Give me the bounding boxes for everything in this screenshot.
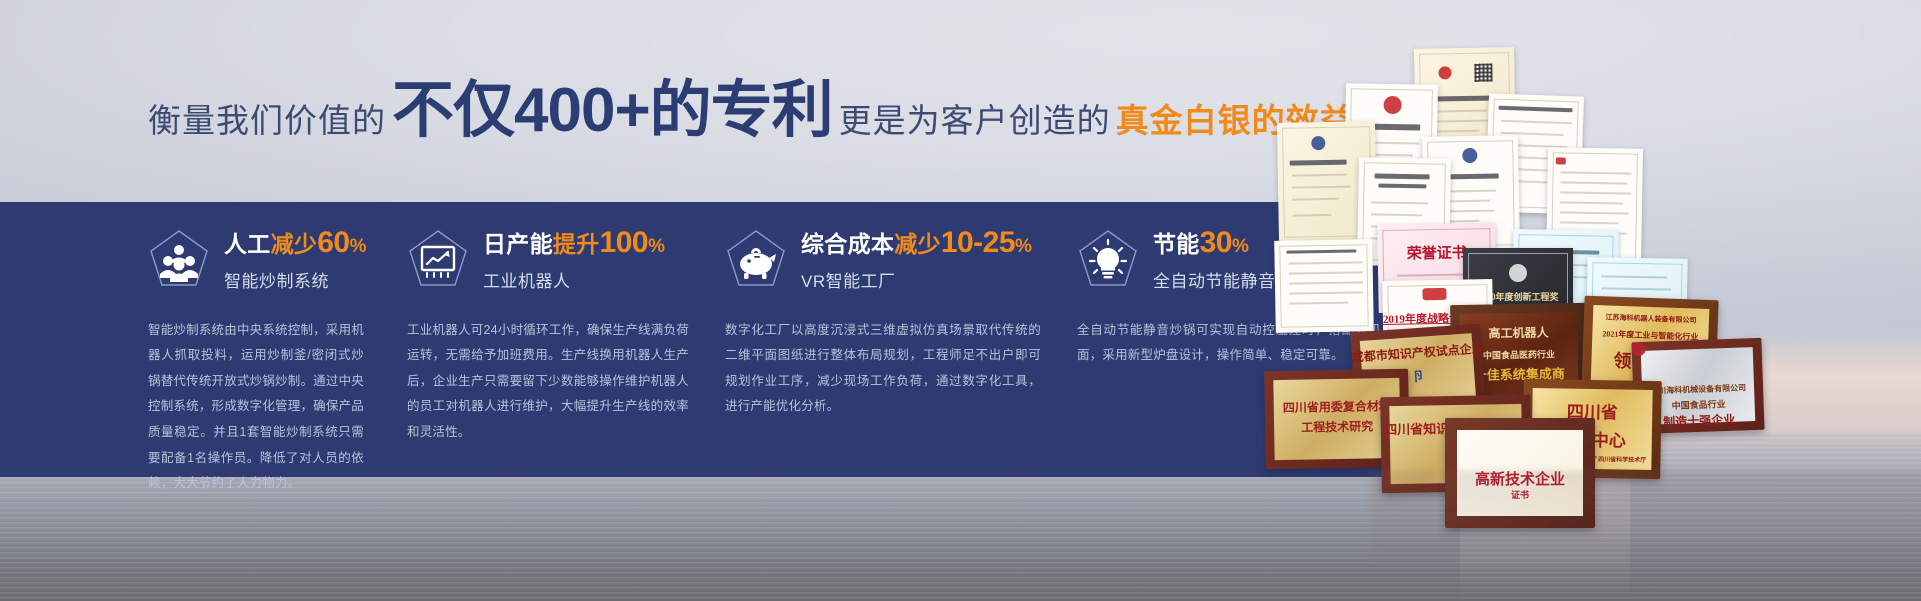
feature-title-prefix: 节能: [1153, 231, 1200, 257]
feature-title: 日产能提升100%: [483, 226, 665, 260]
feature-subtitle: VR智能工厂: [801, 267, 1032, 292]
feature-item-labor: 人工减少60% 智能炒制系统 智能炒制系统由中央系统控制，采用机器人抓取投料，运…: [0, 202, 382, 477]
feature-panel: 人工减少60% 智能炒制系统 智能炒制系统由中央系统控制，采用机器人抓取投料，运…: [0, 202, 1412, 477]
feature-subtitle: 智能炒制系统: [224, 267, 367, 292]
feature-title-number: 10-25: [941, 226, 1015, 259]
feature-title-number: 100: [600, 226, 649, 259]
feature-subtitle: 工业机器人: [483, 267, 665, 292]
promo-banner: 衡量我们价值的 不仅400+的专利 更是为客户创造的 真金白银的效益: [0, 0, 1921, 601]
certificate-left-table: [1274, 239, 1374, 333]
feature-title-unit: %: [1232, 236, 1249, 257]
headline-emphasis: 不仅400+的专利: [386, 80, 839, 142]
feature-title: 人工减少60%: [224, 226, 367, 260]
pile-reflection: [1370, 470, 1921, 580]
headline-lead: 衡量我们价值的: [148, 104, 386, 142]
headline-middle: 更是为客户创造的: [839, 104, 1111, 142]
feature-title-prefix: 日产能: [483, 231, 553, 257]
feature-titles: 综合成本减少10-25% VR智能工厂: [801, 226, 1032, 292]
feature-title-number: 60: [317, 226, 349, 259]
feature-body: 智能炒制系统由中央系统控制，采用机器人抓取投料，运用炒制釜/密闭式炒锅替代传统开…: [148, 318, 364, 497]
people-group-icon: [148, 228, 210, 290]
feature-title-unit: %: [1015, 236, 1032, 257]
feature-title-prefix: 人工: [224, 231, 271, 257]
feature-header: 人工减少60% 智能炒制系统: [148, 226, 364, 292]
feature-titles: 日产能提升100% 工业机器人: [483, 226, 665, 292]
feature-header: 综合成本减少10-25% VR智能工厂: [725, 226, 1041, 292]
award-certificate-pile: 荣誉证书 2020年度创新工程奖: [1255, 40, 1921, 540]
feature-body: 工业机器人可24小时循环工作，确保生产线满负荷运转，无需给予加班费用。生产线换用…: [407, 318, 689, 446]
feature-title-highlight: 减少: [271, 231, 318, 257]
feature-title-number: 30: [1200, 226, 1232, 259]
feature-title-highlight: 提升: [553, 231, 600, 257]
feature-item-capacity: 日产能提升100% 工业机器人 工业机器人可24小时循环工作，确保生产线满负荷运…: [382, 202, 707, 477]
feature-body: 数字化工厂以高度沉浸式三维虚拟仿真场景取代传统的二维平面图纸进行整体布局规划，工…: [725, 318, 1041, 421]
feature-list: 人工减少60% 智能炒制系统 智能炒制系统由中央系统控制，采用机器人抓取投料，运…: [0, 202, 1412, 477]
piggy-bank-icon: [725, 228, 787, 290]
feature-title-prefix: 综合成本: [801, 231, 894, 257]
chart-board-icon: [407, 228, 469, 290]
feature-title: 综合成本减少10-25%: [801, 226, 1032, 260]
feature-header: 日产能提升100% 工业机器人: [407, 226, 689, 292]
lightbulb-icon: [1077, 228, 1139, 290]
feature-title-unit: %: [648, 236, 665, 257]
feature-title-unit: %: [350, 236, 367, 257]
feature-title-highlight: 减少: [894, 231, 941, 257]
feature-item-cost: 综合成本减少10-25% VR智能工厂 数字化工厂以高度沉浸式三维虚拟仿真场景取…: [707, 202, 1059, 477]
feature-titles: 人工减少60% 智能炒制系统: [224, 226, 367, 292]
headline: 衡量我们价值的 不仅400+的专利 更是为客户创造的 真金白银的效益: [148, 78, 1398, 142]
